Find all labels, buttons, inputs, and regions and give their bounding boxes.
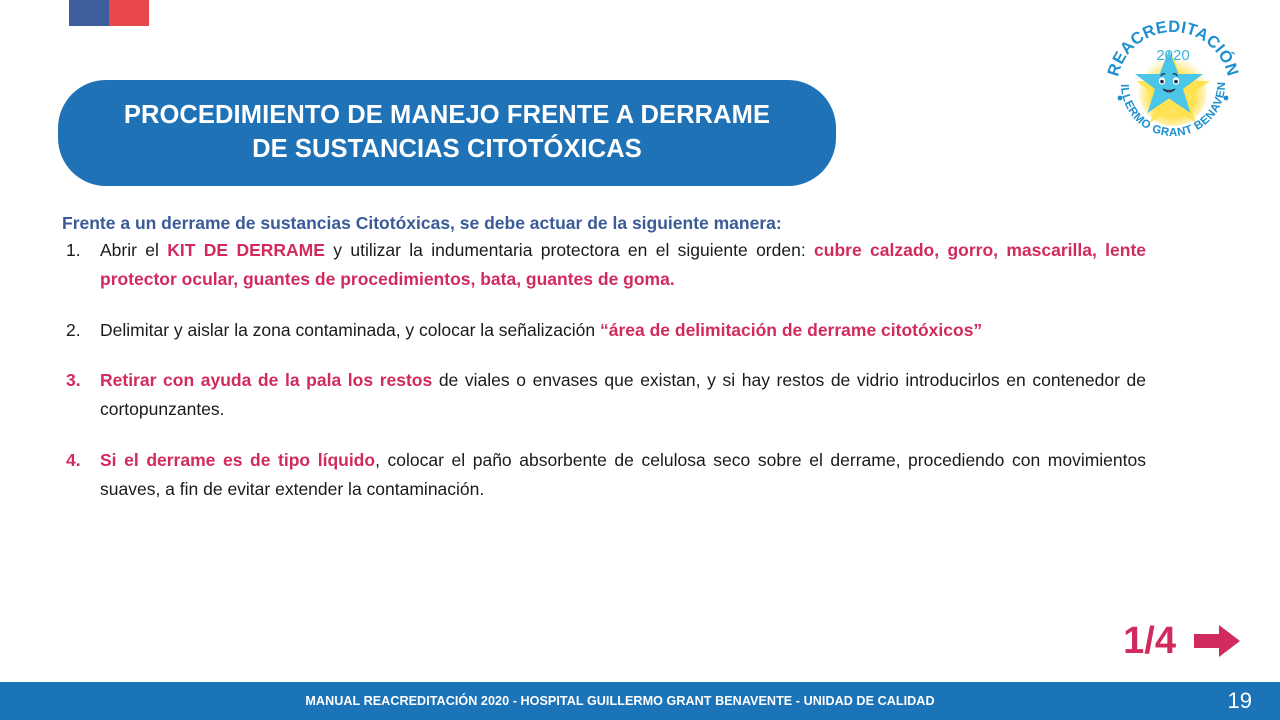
step1-part-1: KIT DE DERRAME xyxy=(167,240,325,260)
list-item: 2. Delimitar y aislar la zona contaminad… xyxy=(62,316,1146,345)
list-item-marker: 4. xyxy=(66,446,92,475)
list-item-marker: 3. xyxy=(66,366,92,395)
step3-part-0: Retirar con ayuda de la pala los restos xyxy=(100,370,432,390)
list-item-marker: 1. xyxy=(66,236,92,265)
page-counter-label: 1/4 xyxy=(1123,622,1176,660)
step2-part-1: “área de delimitación de derrame citotóx… xyxy=(600,320,982,340)
reacreditacion-seal: REACREDITACIÓN GUILLERMO GRANT BENAVENTE… xyxy=(1103,12,1243,152)
page-title: PROCEDIMIENTO DE MANEJO FRENTE A DERRAME… xyxy=(124,99,770,167)
slide-content: Frente a un derrame de sustancias Citotó… xyxy=(62,212,1146,504)
page-indicator: 1/4 xyxy=(1123,622,1240,660)
footer-text: MANUAL REACREDITACIÓN 2020 - HOSPITAL GU… xyxy=(0,694,1280,708)
list-item-text: Delimitar y aislar la zona contaminada, … xyxy=(100,316,1146,345)
intro-paragraph: Frente a un derrame de sustancias Citotó… xyxy=(62,212,1146,235)
step1-part-3: : xyxy=(801,240,814,260)
list-item-text: Si el derrame es de tipo líquido, coloca… xyxy=(100,446,1146,504)
seal-year: 2020 xyxy=(1156,47,1189,64)
steps-list: 1. Abrir el KIT DE DERRAME y utilizar la… xyxy=(62,236,1146,503)
list-item: 1. Abrir el KIT DE DERRAME y utilizar la… xyxy=(62,236,1146,294)
chile-government-logo xyxy=(69,0,149,26)
logo-blue-block xyxy=(69,0,109,26)
step1-part-0: Abrir el xyxy=(100,240,167,260)
slide-title-banner: PROCEDIMIENTO DE MANEJO FRENTE A DERRAME… xyxy=(58,80,836,186)
right-arrow-icon[interactable] xyxy=(1194,623,1240,659)
list-item-marker: 2. xyxy=(66,316,92,345)
step1-part-2: y utilizar la indumentaria protectora en… xyxy=(325,240,801,260)
list-item: 3. Retirar con ayuda de la pala los rest… xyxy=(62,366,1146,424)
list-item: 4. Si el derrame es de tipo líquido, col… xyxy=(62,446,1146,504)
list-item-text: Abrir el KIT DE DERRAME y utilizar la in… xyxy=(100,236,1146,294)
step4-part-0: Si el derrame es de tipo líquido xyxy=(100,450,375,470)
logo-red-block xyxy=(109,0,149,26)
step2-part-0: Delimitar y aislar la zona contaminada, … xyxy=(100,320,600,340)
slide-number: 19 xyxy=(1228,688,1252,714)
list-item-text: Retirar con ayuda de la pala los restos … xyxy=(100,366,1146,424)
footer-bar: MANUAL REACREDITACIÓN 2020 - HOSPITAL GU… xyxy=(0,682,1280,720)
